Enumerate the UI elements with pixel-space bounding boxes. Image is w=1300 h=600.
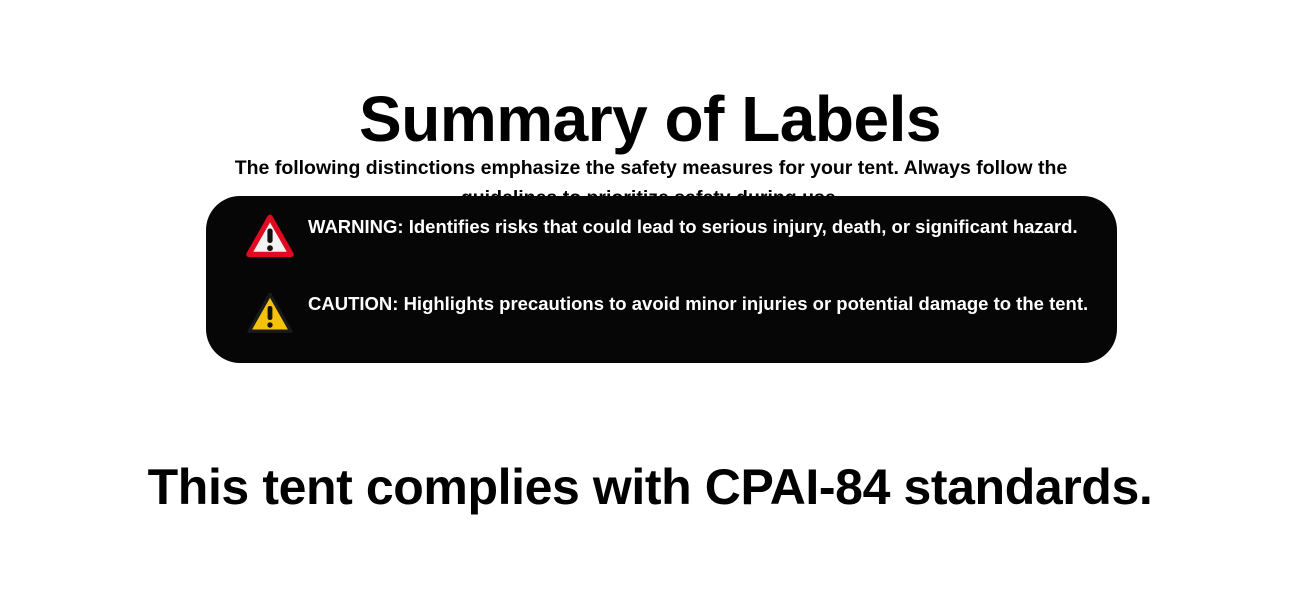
- safety-callout-panel: WARNING: Identifies risks that could lea…: [206, 196, 1117, 363]
- caution-callout-text: CAUTION: Highlights precautions to avoid…: [308, 289, 1088, 318]
- page-title: Summary of Labels: [0, 85, 1300, 154]
- labels-summary-page: Summary of Labels The following distinct…: [0, 0, 1300, 600]
- caution-callout-row: CAUTION: Highlights precautions to avoid…: [246, 289, 1097, 335]
- compliance-statement: This tent complies with CPAI-84 standard…: [0, 459, 1300, 515]
- warning-triangle-icon: [246, 214, 294, 258]
- warning-callout-text: WARNING: Identifies risks that could lea…: [308, 212, 1078, 241]
- warning-callout-row: WARNING: Identifies risks that could lea…: [246, 212, 1097, 258]
- caution-triangle-icon: [246, 291, 294, 335]
